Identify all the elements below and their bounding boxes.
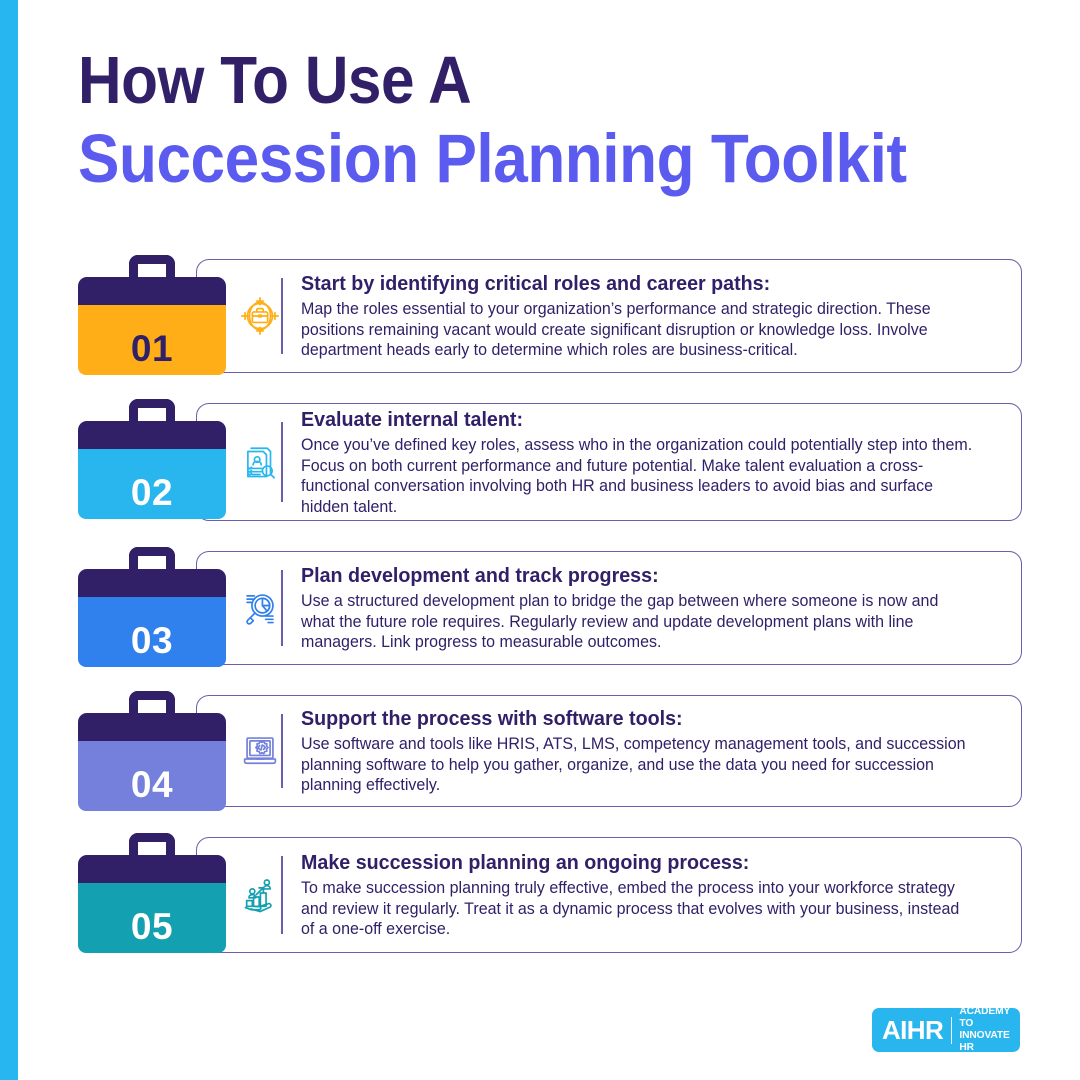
step-item: 05 [0, 833, 1080, 955]
logo-wordmark: AIHR [882, 1017, 943, 1043]
infographic-page: How To Use A Succession Planning Toolkit… [0, 0, 1080, 1080]
toolbox-body: 02 [78, 449, 226, 519]
step-title: Make succession planning an ongoing proc… [301, 850, 969, 875]
toolbox-body: 01 [78, 305, 226, 375]
toolbox-body: 03 [78, 597, 226, 667]
step-card: Start by identifying critical roles and … [196, 259, 1022, 373]
step-card: Support the process with software tools:… [196, 695, 1022, 807]
step-text: Make succession planning an ongoing proc… [283, 850, 1021, 940]
step-number: 01 [131, 330, 173, 367]
step-card: Plan development and track progress: Use… [196, 551, 1022, 665]
toolbox-body: 04 [78, 741, 226, 811]
step-text: Evaluate internal talent: Once you’ve de… [283, 407, 1021, 517]
page-title: How To Use A Succession Planning Toolkit [78, 42, 1038, 198]
step-title: Evaluate internal talent: [301, 407, 969, 432]
step-title: Plan development and track progress: [301, 563, 969, 588]
step-card: Evaluate internal talent: Once you’ve de… [196, 403, 1022, 521]
toolbox-icon-01: 01 [78, 255, 226, 355]
step-body: Use a structured development plan to bri… [301, 591, 973, 653]
step-number: 05 [131, 908, 173, 945]
toolbox-body: 05 [78, 883, 226, 953]
steps-list: 01 [0, 255, 1080, 979]
title-line-2: Succession Planning Toolkit [78, 120, 942, 198]
step-item: 03 [0, 547, 1080, 667]
step-number: 02 [131, 474, 173, 511]
toolbox-icon-02: 02 [78, 399, 226, 499]
step-title: Start by identifying critical roles and … [301, 271, 969, 296]
step-number: 04 [131, 766, 173, 803]
toolbox-icon-05: 05 [78, 833, 226, 933]
step-item: 04 Su [0, 691, 1080, 809]
logo-tagline: ACADEMY TO INNOVATE HR [959, 1006, 1010, 1054]
step-body: Once you’ve defined key roles, assess wh… [301, 435, 973, 517]
step-number: 03 [131, 622, 173, 659]
title-line-1: How To Use A [78, 42, 942, 120]
step-title: Support the process with software tools: [301, 706, 969, 731]
toolbox-icon-03: 03 [78, 547, 226, 647]
toolbox-icon-04: 04 [78, 691, 226, 791]
step-card: Make succession planning an ongoing proc… [196, 837, 1022, 953]
logo-tagline-line-1: ACADEMY TO [959, 1006, 1010, 1030]
logo-tagline-line-2: INNOVATE HR [959, 1030, 1010, 1054]
step-text: Start by identifying critical roles and … [283, 271, 1021, 361]
step-body: Map the roles essential to your organiza… [301, 299, 973, 361]
step-item: 02 [0, 399, 1080, 523]
step-text: Support the process with software tools:… [283, 706, 1021, 796]
step-body: Use software and tools like HRIS, ATS, L… [301, 734, 973, 796]
step-text: Plan development and track progress: Use… [283, 563, 1021, 653]
step-item: 01 [0, 255, 1080, 375]
step-body: To make succession planning truly effect… [301, 878, 973, 940]
aihr-logo: AIHR ACADEMY TO INNOVATE HR [872, 1008, 1020, 1052]
